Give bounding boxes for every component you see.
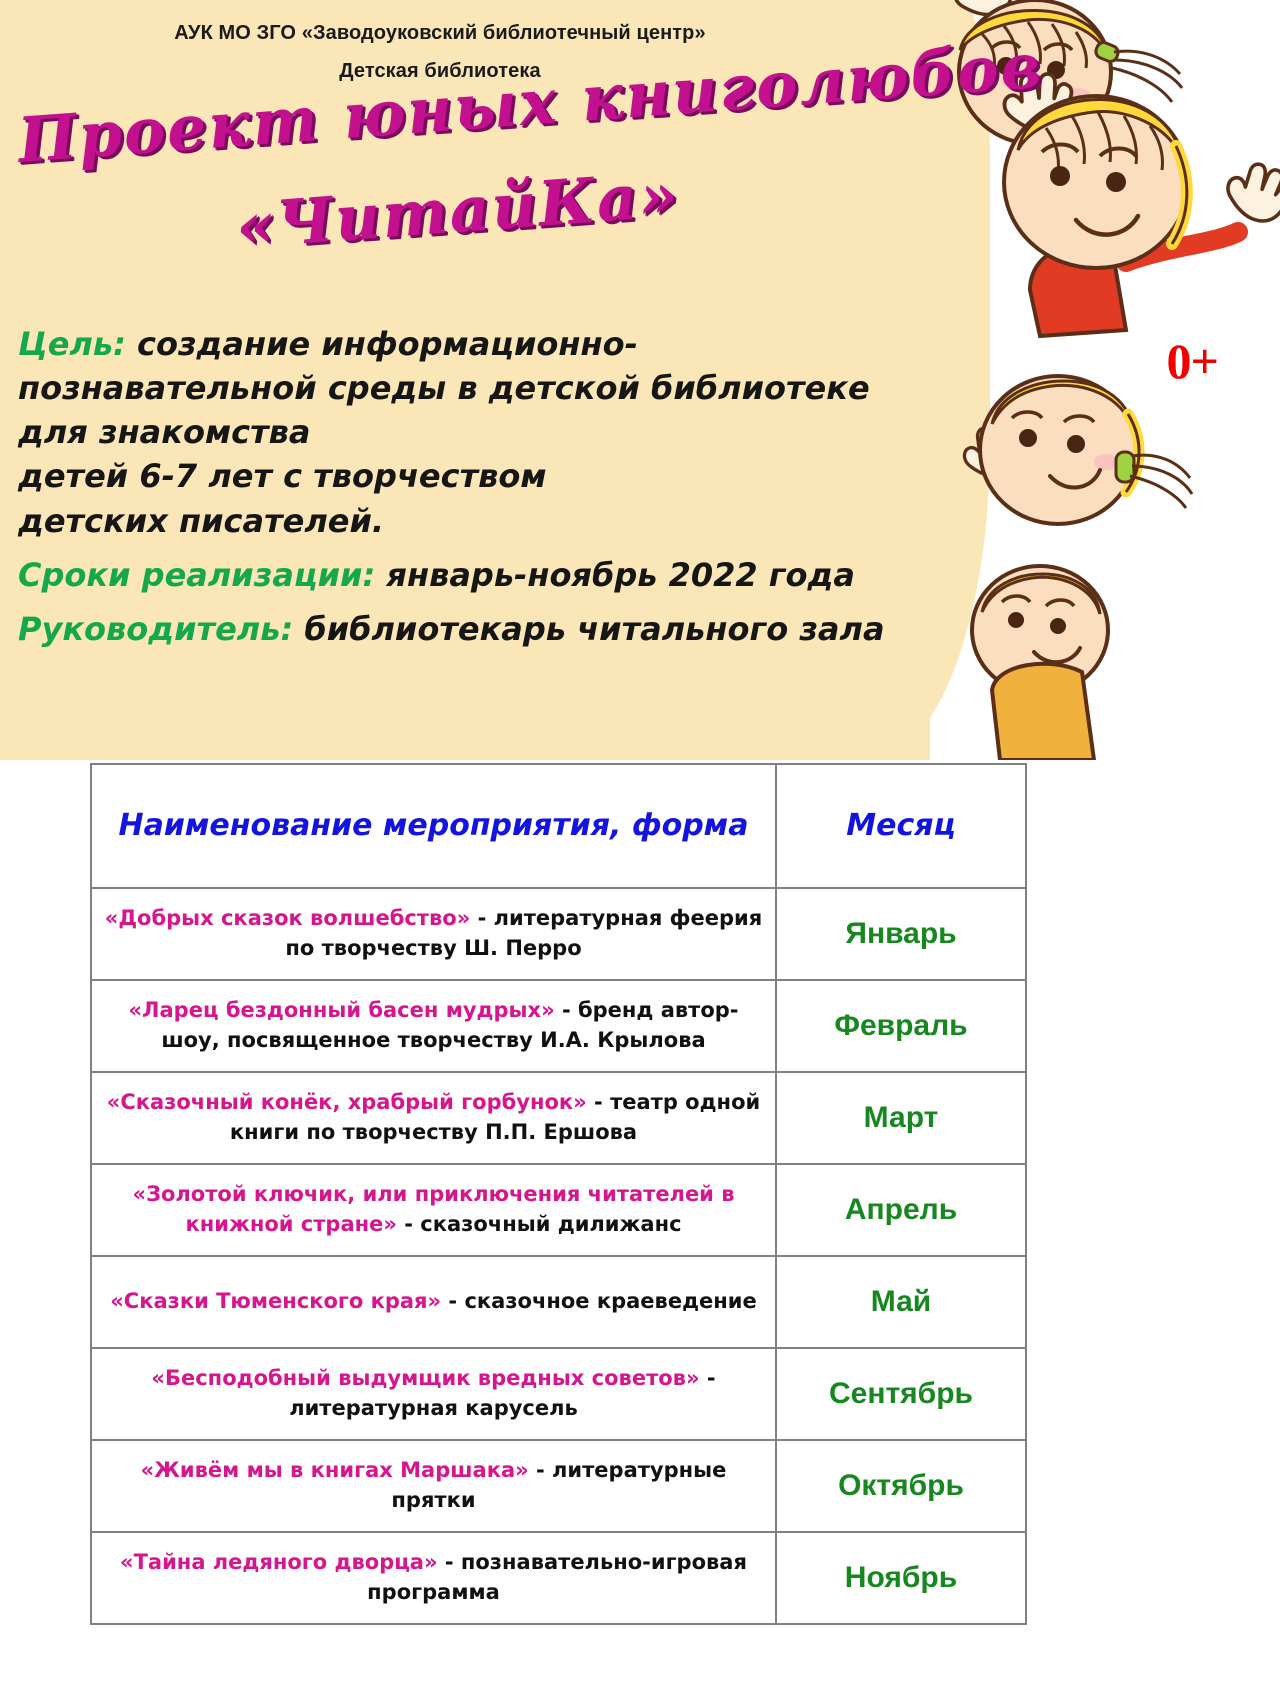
table-row: «Живём мы в книгах Маршака» - литературн… (91, 1440, 1026, 1532)
event-title: «Добрых сказок волшебство» (105, 906, 471, 930)
month-cell: Ноябрь (776, 1532, 1026, 1624)
event-description: - сказочный дилижанс (397, 1212, 682, 1236)
goal-line-3: для знакомства (18, 410, 978, 454)
manager-line: Руководитель: библиотекарь читального за… (18, 607, 978, 651)
event-cell: «Добрых сказок волшебство» - литературна… (91, 888, 776, 980)
event-title: «Тайна ледяного дворца» (120, 1550, 438, 1574)
dates-value: январь-ноябрь 2022 года (386, 556, 855, 594)
dates-line: Сроки реализации: январь-ноябрь 2022 год… (18, 553, 978, 597)
event-title: «Живём мы в книгах Маршака» (141, 1458, 529, 1482)
age-rating-badge: 0+ (1167, 332, 1219, 390)
event-cell: «Ларец бездонный басен мудрых» - бренд а… (91, 980, 776, 1072)
event-cell: «Тайна ледяного дворца» - познавательно-… (91, 1532, 776, 1624)
month-cell: Март (776, 1072, 1026, 1164)
event-cell: «Сказочный конёк, храбрый горбунок» - те… (91, 1072, 776, 1164)
goal-line-2: познавательной среды в детской библиотек… (18, 366, 978, 410)
events-schedule-table: Наименование мероприятия, форма Месяц «Д… (90, 763, 1027, 1625)
month-cell: Май (776, 1256, 1026, 1348)
goal-line-5: детских писателей. (18, 499, 978, 543)
table-row: «Ларец бездонный басен мудрых» - бренд а… (91, 980, 1026, 1072)
table-row: «Добрых сказок волшебство» - литературна… (91, 888, 1026, 980)
month-cell: Февраль (776, 980, 1026, 1072)
event-title: «Ларец бездонный басен мудрых» (128, 998, 554, 1022)
project-info-block: Цель: создание информационно- познавател… (18, 322, 978, 651)
manager-label: Руководитель: (18, 610, 293, 648)
dates-label: Сроки реализации: (18, 556, 375, 594)
column-header-month: Месяц (776, 764, 1026, 888)
table-row: «Золотой ключик, или приключения читател… (91, 1164, 1026, 1256)
manager-value: библиотекарь читального зала (304, 610, 884, 648)
month-cell: Январь (776, 888, 1026, 980)
event-cell: «Сказки Тюменского края» - сказочное кра… (91, 1256, 776, 1348)
goal-label: Цель: (18, 325, 126, 363)
table-header-row: Наименование мероприятия, форма Месяц (91, 764, 1026, 888)
event-cell: «Бесподобный выдумщик вредных советов» -… (91, 1348, 776, 1440)
event-title: «Бесподобный выдумщик вредных советов» (151, 1366, 699, 1390)
table-row: «Тайна ледяного дворца» - познавательно-… (91, 1532, 1026, 1624)
month-cell: Сентябрь (776, 1348, 1026, 1440)
event-cell: «Золотой ключик, или приключения читател… (91, 1164, 776, 1256)
event-title: «Сказочный конёк, храбрый горбунок» (107, 1090, 587, 1114)
schedule-table-container: Наименование мероприятия, форма Месяц «Д… (90, 763, 1025, 1625)
schedule-table-body: «Добрых сказок волшебство» - литературна… (91, 888, 1026, 1624)
column-header-event: Наименование мероприятия, форма (91, 764, 776, 888)
event-cell: «Живём мы в книгах Маршака» - литературн… (91, 1440, 776, 1532)
month-cell: Апрель (776, 1164, 1026, 1256)
table-row: «Сказки Тюменского края» - сказочное кра… (91, 1256, 1026, 1348)
table-row: «Сказочный конёк, храбрый горбунок» - те… (91, 1072, 1026, 1164)
goal-line-4: детей 6-7 лет с творчеством (18, 454, 978, 498)
table-row: «Бесподобный выдумщик вредных советов» -… (91, 1348, 1026, 1440)
goal-text-part-1: создание информационно- (137, 325, 638, 363)
organization-name: АУК МО ЗГО «Заводоуковский библиотечный … (0, 22, 880, 45)
month-cell: Октябрь (776, 1440, 1026, 1532)
goal-line-1: Цель: создание информационно- (18, 322, 978, 366)
event-title: «Сказки Тюменского края» (110, 1289, 441, 1313)
event-description: - сказочное краеведение (441, 1289, 757, 1313)
